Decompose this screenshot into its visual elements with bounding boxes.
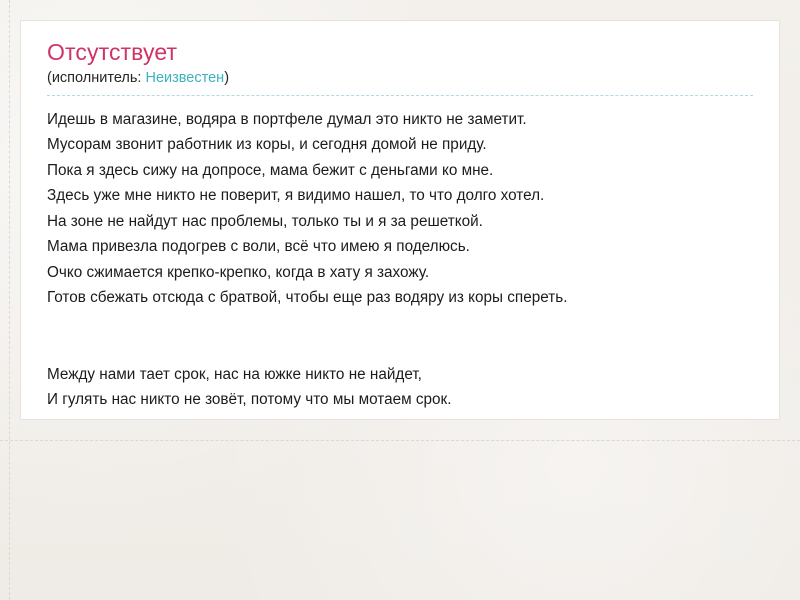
lyric-line: Мама привезла подогрев с воли, всё что и… <box>47 234 753 260</box>
lyric-line: Между нами тает срок, нас на южке никто … <box>47 362 753 388</box>
lyrics-card: Отсутствует (исполнитель: Неизвестен) Ид… <box>20 20 780 420</box>
lyric-line: И гулять нас никто не зовёт, потому что … <box>47 387 753 413</box>
page-background: Отсутствует (исполнитель: Неизвестен) Ид… <box>0 0 800 600</box>
lyric-line: Идешь в магазине, водяра в портфеле дума… <box>47 107 753 133</box>
lyric-line-blank <box>47 336 753 362</box>
lyric-line: На зоне не найдут нас проблемы, только т… <box>47 209 753 235</box>
lyric-line: Пока я здесь сижу на допросе, мама бежит… <box>47 158 753 184</box>
lyric-line: Готов сбежать отсюда с братвой, чтобы ещ… <box>47 285 753 311</box>
page-bottom-dashed-rule <box>0 440 800 441</box>
lyrics-body: Идешь в магазине, водяра в портфеле дума… <box>47 96 753 413</box>
lyric-line: Мусорам звонит работник из коры, и сегод… <box>47 132 753 158</box>
lyric-line: Очко сжимается крепко-крепко, когда в ха… <box>47 260 753 286</box>
artist-label-prefix: (исполнитель: <box>47 70 145 86</box>
page-left-dashed-rule <box>9 0 10 600</box>
song-title: Отсутствует <box>47 39 753 66</box>
artist-link[interactable]: Неизвестен <box>145 70 224 86</box>
lyric-line-blank <box>47 311 753 337</box>
lyric-line: Здесь уже мне никто не поверит, я видимо… <box>47 183 753 209</box>
artist-label-suffix: ) <box>224 70 229 86</box>
artist-line: (исполнитель: Неизвестен) <box>47 70 753 95</box>
